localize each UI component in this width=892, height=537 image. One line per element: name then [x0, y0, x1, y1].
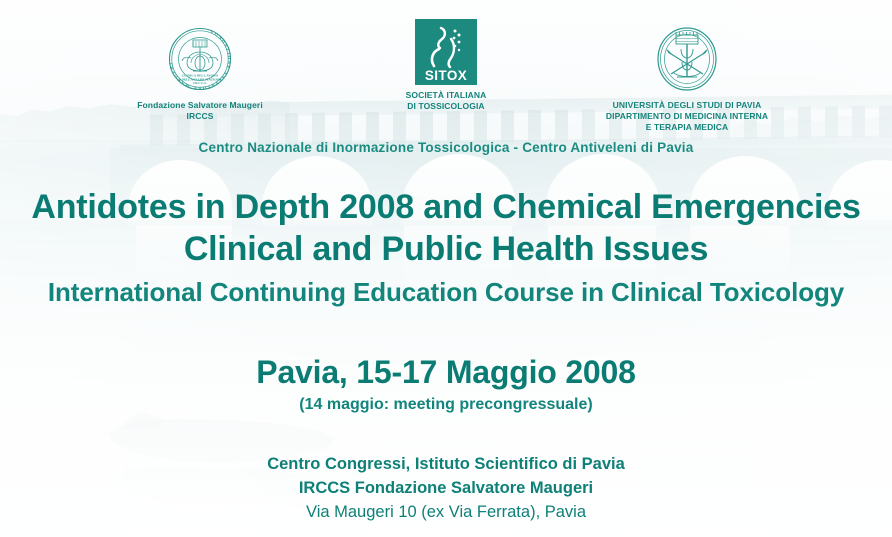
page-title-line-2: Clinical and Public Health Issues [0, 228, 892, 270]
maugeri-seal-icon: FONDAZIONE SALVATORE MAUGERI CLINICA DEL… [163, 22, 237, 96]
pavia-caption-line-2: DIPARTIMENTO DI MEDICINA INTERNA [594, 111, 780, 122]
pavia-caption-line-1: UNIVERSITÀ DEGLI STUDI DI PAVIA [594, 100, 780, 111]
logo-sitox: SITOX SOCIETÀ ITALIANA DI TOSSICOLOGIA [383, 19, 509, 112]
sitox-caption-line-2: DI TOSSICOLOGIA [383, 101, 509, 112]
pavia-caption-line-3: E TERAPIA MEDICA [594, 122, 780, 133]
svg-text:I.R.C.C.S.: I.R.C.C.S. [193, 81, 207, 85]
venue-block: Centro Congressi, Istituto Scientifico d… [0, 452, 892, 524]
organiser-line: Centro Nazionale di Inormazione Tossicol… [0, 140, 892, 155]
pavia-university-seal-icon [651, 22, 723, 96]
sitox-mark-icon: SITOX [415, 19, 477, 85]
maugeri-caption-line-1: Fondazione Salvatore Maugeri [122, 100, 278, 111]
event-date-note: (14 maggio: meeting precongressuale) [0, 392, 892, 418]
logo-fondazione-maugeri: FONDAZIONE SALVATORE MAUGERI CLINICA DEL… [122, 22, 278, 122]
venue-line-1: Centro Congressi, Istituto Scientifico d… [0, 452, 892, 476]
title-block: Antidotes in Depth 2008 and Chemical Eme… [0, 186, 892, 314]
page-title-line-1: Antidotes in Depth 2008 and Chemical Eme… [0, 186, 892, 228]
poster-content: FONDAZIONE SALVATORE MAUGERI CLINICA DEL… [0, 0, 892, 537]
sitox-caption-line-1: SOCIETÀ ITALIANA [383, 90, 509, 101]
event-date-block: Pavia, 15-17 Maggio 2008 (14 maggio: mee… [0, 352, 892, 418]
venue-line-2: IRCCS Fondazione Salvatore Maugeri [0, 476, 892, 500]
maugeri-caption-line-2: IRCCS [122, 111, 278, 122]
page-subtitle: International Continuing Education Cours… [0, 270, 892, 314]
logo-universita-pavia: UNIVERSITÀ DEGLI STUDI DI PAVIA DIPARTIM… [594, 22, 780, 133]
congress-banner-poster: FONDAZIONE SALVATORE MAUGERI CLINICA DEL… [0, 0, 892, 537]
venue-line-3: Via Maugeri 10 (ex Via Ferrata), Pavia [0, 500, 892, 524]
svg-text:SITOX: SITOX [425, 68, 467, 83]
logo-row: FONDAZIONE SALVATORE MAUGERI CLINICA DEL… [0, 0, 892, 132]
event-date: Pavia, 15-17 Maggio 2008 [0, 352, 892, 392]
